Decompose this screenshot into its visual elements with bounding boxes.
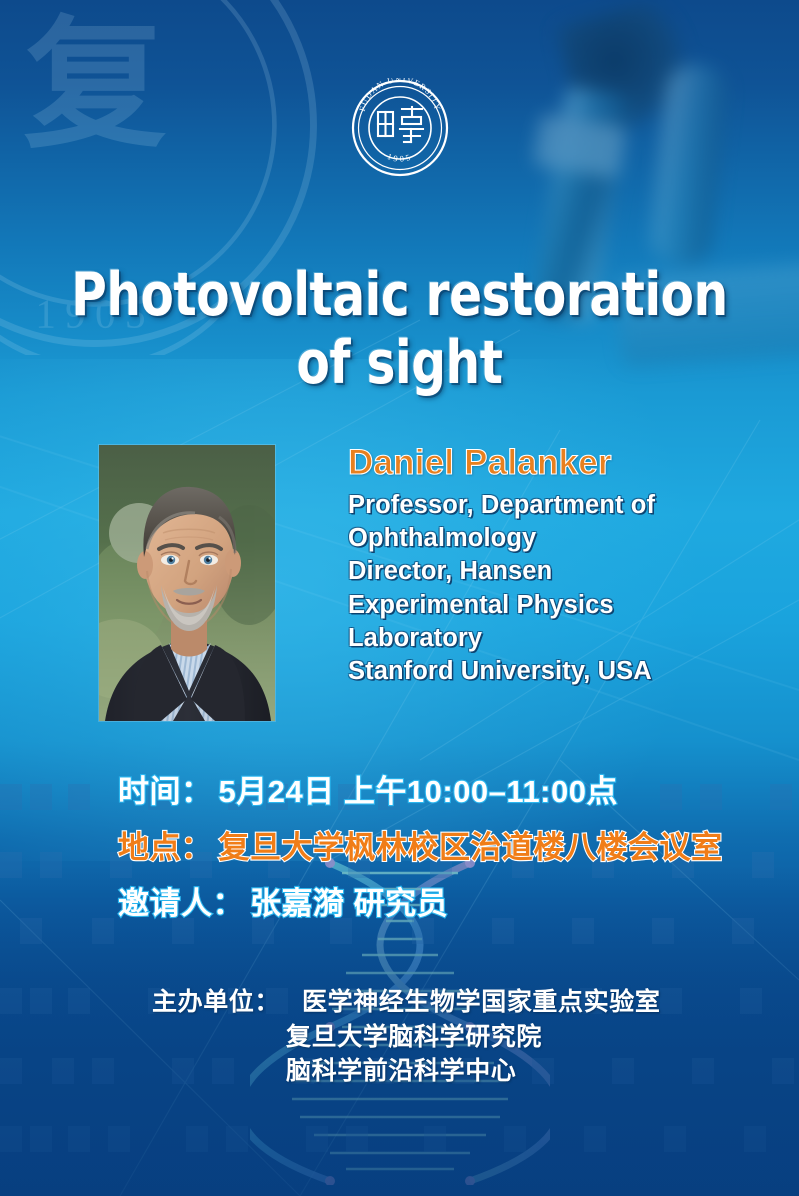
event-host-label: 邀请人：	[118, 886, 244, 921]
speaker-portrait	[99, 445, 275, 721]
event-place-value: 复旦大学枫林校区治道楼八楼会议室	[219, 830, 723, 865]
organizer-row-first: 主办单位： 医学神经生物学国家重点实验室	[152, 985, 779, 1020]
poster-title: Photovoltaic restoration of sight	[40, 262, 759, 398]
event-host-value: 张嘉漪 研究员	[250, 886, 448, 921]
affiliation-line: Laboratory	[348, 622, 771, 655]
speaker-name: Daniel Palanker	[348, 443, 771, 482]
event-time-label: 时间：	[118, 774, 213, 809]
svg-text:1905: 1905	[385, 151, 413, 164]
event-host-line: 邀请人：张嘉漪 研究员	[118, 888, 779, 919]
fudan-university-seal-icon: FUDAN UNIVERSITY 1905	[338, 78, 462, 178]
seminar-poster: 复 1905	[0, 0, 799, 1196]
poster-content: FUDAN UNIVERSITY 1905	[0, 0, 799, 1196]
affiliation-line: Stanford University, USA	[348, 655, 771, 688]
affiliation-line: Ophthalmology	[348, 522, 771, 555]
organizer-line: 医学神经生物学国家重点实验室	[302, 985, 660, 1020]
event-place-label: 地点：	[118, 830, 213, 865]
speaker-affiliation: Professor, Department of Ophthalmology D…	[348, 489, 771, 688]
title-line-2: of sight	[40, 330, 759, 398]
organizer-block: 主办单位： 医学神经生物学国家重点实验室 复旦大学脑科学研究院 脑科学前沿科学中…	[152, 985, 779, 1089]
title-line-1: Photovoltaic restoration	[71, 260, 727, 330]
event-details: 时间：5月24日 上午10:00–11:00点 地点：复旦大学枫林校区治道楼八楼…	[118, 776, 779, 944]
speaker-info: Daniel Palanker Professor, Department of…	[348, 443, 771, 688]
event-time-value: 5月24日 上午10:00–11:00点	[219, 774, 618, 809]
event-place-line: 地点：复旦大学枫林校区治道楼八楼会议室	[118, 832, 779, 863]
organizer-line: 脑科学前沿科学中心	[286, 1054, 779, 1089]
affiliation-line: Director, Hansen	[348, 555, 771, 588]
organizer-label: 主办单位：	[152, 985, 280, 1020]
affiliation-line: Professor, Department of	[348, 489, 771, 522]
event-time-line: 时间：5月24日 上午10:00–11:00点	[118, 776, 779, 807]
organizer-line: 复旦大学脑科学研究院	[286, 1020, 779, 1055]
svg-text:FUDAN UNIVERSITY: FUDAN UNIVERSITY	[357, 78, 442, 112]
affiliation-line: Experimental Physics	[348, 589, 771, 622]
